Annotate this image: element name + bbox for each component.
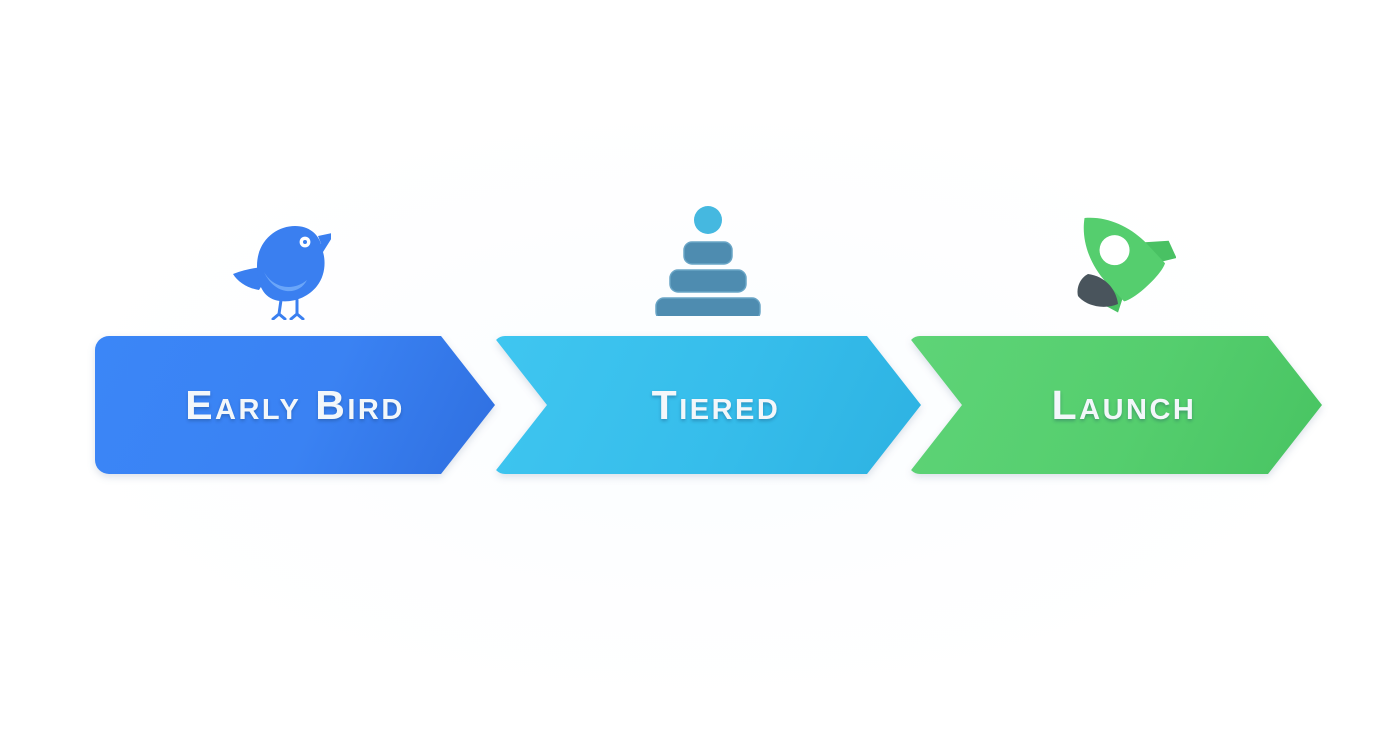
stage-label: Launch [1034,382,1197,429]
stage-label: Tiered [634,382,781,429]
chevron-launch[interactable]: Launch [908,336,1322,474]
chevron-flow: Early Bird Tiered [0,0,1392,752]
rocket-icon [1060,198,1180,318]
tiered-pyramid-icon [648,196,768,316]
bird-icon [215,200,335,320]
stage-label: Early Bird [185,382,405,429]
chevron-early-bird[interactable]: Early Bird [95,336,495,474]
chevron-tiered[interactable]: Tiered [493,336,921,474]
diagram-canvas: Early Bird Tiered [0,0,1392,752]
